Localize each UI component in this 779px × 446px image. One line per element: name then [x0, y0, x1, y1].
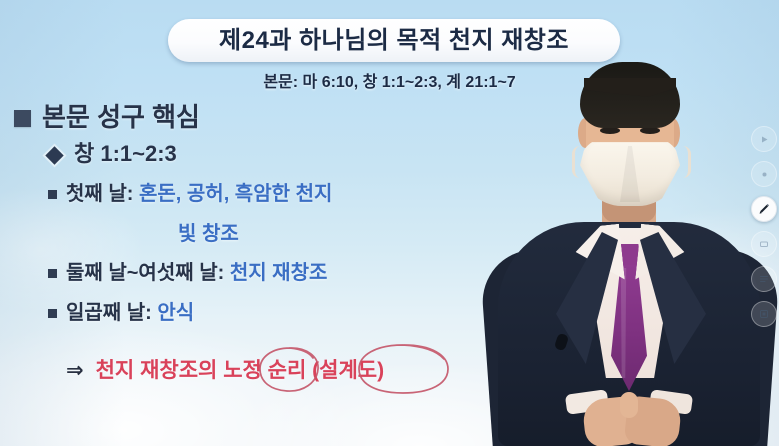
- point-day-seven: 일곱째 날: 안식: [48, 303, 194, 323]
- eraser-icon[interactable]: [751, 231, 777, 257]
- presenter-video: [480, 0, 779, 446]
- scripture-reference-label: 창 1:1~2:3: [74, 141, 177, 166]
- play-icon[interactable]: [751, 126, 777, 152]
- presenter-eye-right: [640, 127, 660, 134]
- small-square-bullet-icon: [48, 269, 57, 278]
- pen-icon[interactable]: [751, 196, 777, 222]
- point-day-one-cont: 빛 창조: [178, 224, 239, 244]
- arrow-icon: ⇒: [66, 359, 84, 382]
- pointer-dot-icon[interactable]: [751, 161, 777, 187]
- point-value: 천지 재창조: [230, 262, 328, 284]
- point-value: 혼돈, 공허, 흑암한 천지: [139, 183, 332, 205]
- small-square-bullet-icon: [48, 190, 57, 199]
- point-days-two-to-six: 둘째 날~여섯째 날: 천지 재창조: [48, 263, 327, 283]
- conclusion-text: 천지 재창조의 노정 순리 (설계도): [96, 359, 384, 382]
- point-label: 둘째 날~여섯째 날:: [66, 262, 224, 284]
- scripture-reference: 창 1:1~2:3: [48, 143, 177, 165]
- slide-stage: 제24과 하나님의 목적 천지 재창조 본문: 마 6:10, 창 1:1~2:…: [0, 0, 779, 446]
- capture-icon[interactable]: [751, 301, 777, 327]
- annotation-toolbar[interactable]: [751, 126, 777, 327]
- diamond-bullet-icon: [45, 146, 63, 164]
- presenter-hair: [580, 62, 680, 128]
- point-label: 일곱째 날:: [66, 302, 152, 324]
- text-icon[interactable]: [751, 266, 777, 292]
- section-heading-label: 본문 성구 핵심: [42, 102, 200, 132]
- section-heading: 본문 성구 핵심: [14, 104, 200, 130]
- point-day-one: 첫째 날: 혼돈, 공허, 흑암한 천지: [48, 184, 332, 204]
- conclusion-line: ⇒천지 재창조의 노정 순리 (설계도): [66, 360, 384, 381]
- small-square-bullet-icon: [48, 309, 57, 318]
- presenter-thumb: [620, 392, 638, 418]
- point-label: 첫째 날:: [66, 183, 133, 205]
- presenter-eye-left: [600, 127, 620, 134]
- point-value: 안식: [157, 302, 194, 324]
- square-bullet-icon: [14, 110, 31, 127]
